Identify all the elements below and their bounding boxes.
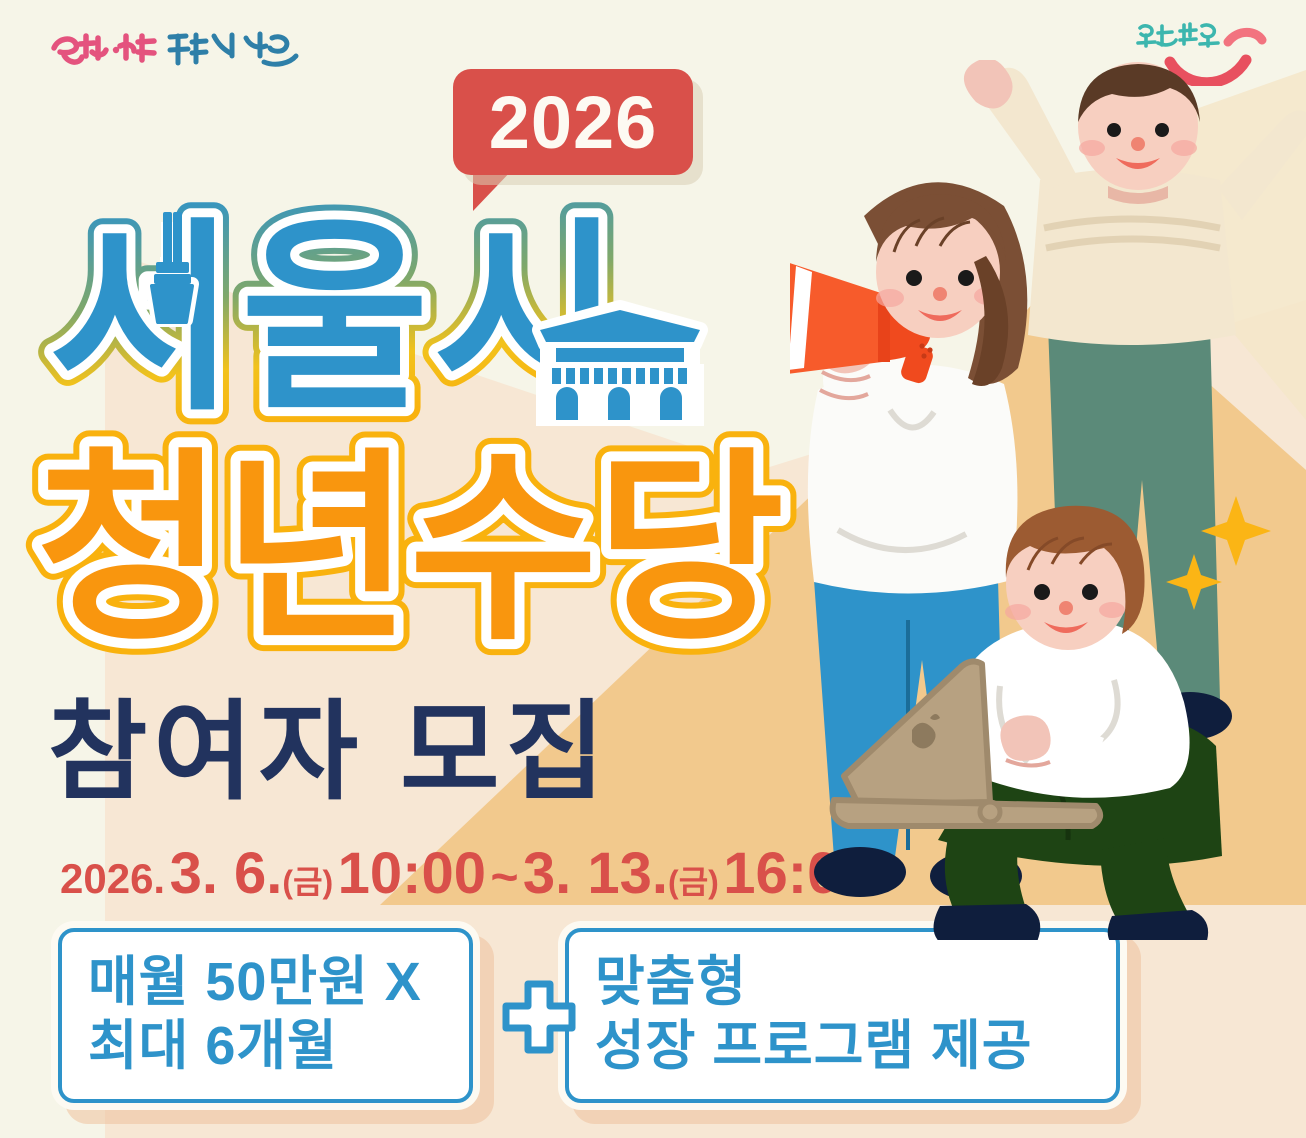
- schedule-end-day: (금): [668, 864, 719, 900]
- benefits-group: 매월 50만원 X 최대 6개월 맞춤형 성장 프로그램 제공: [58, 925, 1138, 1105]
- schedule-line: 2026. 3. 6.(금) 10:00 ~ 3. 13.(금) 16:00: [60, 845, 872, 903]
- headline-group: 서울시 서울시 서울시: [0, 180, 830, 680]
- illustration-svg: [790, 60, 1306, 940]
- schedule-year: 2026.: [60, 855, 165, 902]
- schedule-end-date: 3. 13.: [523, 841, 668, 906]
- illustration-group: [790, 60, 1306, 940]
- page-subtitle: 참여자 모집: [48, 698, 611, 806]
- schedule-start-day: (금): [282, 864, 333, 900]
- benefit-text-program: 맞춤형 성장 프로그램 제공: [595, 951, 1032, 1078]
- benefit-box-allowance: 매월 50만원 X 최대 6개월: [58, 928, 473, 1103]
- poster-canvas: 2026 서울시 서울시 서울시: [0, 0, 1306, 1138]
- year-badge: 2026: [453, 69, 693, 175]
- schedule-separator: ~: [490, 851, 518, 904]
- schedule-start-time: 10:00: [338, 841, 486, 906]
- seoul-logo-icon: [46, 22, 306, 78]
- plus-icon-svg: [498, 978, 580, 1060]
- headline-line2-fill: 청년수당: [36, 435, 782, 664]
- badge-year-label: 2026: [453, 69, 693, 175]
- schedule-start-date: 3. 6.: [170, 841, 283, 906]
- benefit-box-program: 맞춤형 성장 프로그램 제공: [565, 928, 1120, 1103]
- benefit-text-allowance: 매월 50만원 X 최대 6개월: [88, 951, 422, 1078]
- plus-icon: [498, 978, 580, 1060]
- gwanghwamun-gate-icon: [540, 308, 700, 420]
- seoul-brand-logo: [46, 22, 306, 78]
- headline-svg: 서울시 서울시 서울시: [0, 180, 830, 680]
